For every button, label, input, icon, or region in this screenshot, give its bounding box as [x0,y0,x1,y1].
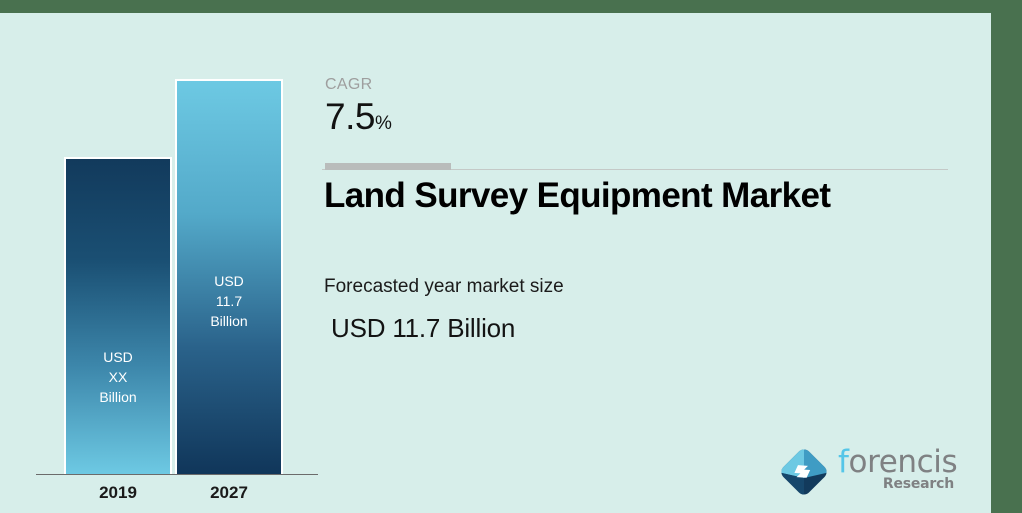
x-tick-2027: 2027 [175,483,283,503]
bar-2027-label-line-2: 11.7 [177,291,281,311]
bar-2019: USD XX Billion [64,157,172,474]
forencis-wordmark: forencis Research [838,445,956,499]
cagr-number: 7.5 [325,96,375,137]
forecast-value: USD 11.7 Billion [331,313,515,344]
cagr-percent-sign: % [375,113,392,134]
forencis-diamond-icon [776,444,832,500]
cagr-label: CAGR [325,76,372,94]
forencis-name: forencis [838,445,957,479]
bar-2027-label-line-1: USD [177,271,281,291]
infographic-canvas: USD XX Billion USD 11.7 Billion 2019 202… [0,0,1022,513]
forencis-subtitle: Research [883,476,954,492]
bar-2019-label: USD XX Billion [66,347,170,407]
page-title: Land Survey Equipment Market [324,176,964,216]
bar-2027: USD 11.7 Billion [175,79,283,474]
content-panel: CAGR 7.5% Land Survey Equipment Market F… [322,13,982,513]
x-axis-line [36,474,318,475]
right-green-band [991,0,1022,513]
forencis-name-rest: orencis [849,444,958,480]
forecast-label: Forecasted year market size [324,276,564,298]
forencis-logo: forencis Research [776,442,956,502]
forencis-name-f: f [838,444,849,480]
bar-2019-label-line-3: Billion [66,387,170,407]
bar-2019-label-line-2: XX [66,367,170,387]
x-tick-2019: 2019 [64,483,172,503]
cagr-value: 7.5% [325,96,392,145]
header-accent-bar [325,163,451,170]
bar-2027-label: USD 11.7 Billion [177,271,281,331]
bar-chart: USD XX Billion USD 11.7 Billion 2019 202… [0,13,330,513]
bar-2027-label-line-3: Billion [177,311,281,331]
bar-2019-label-line-1: USD [66,347,170,367]
top-green-band [0,0,1022,13]
